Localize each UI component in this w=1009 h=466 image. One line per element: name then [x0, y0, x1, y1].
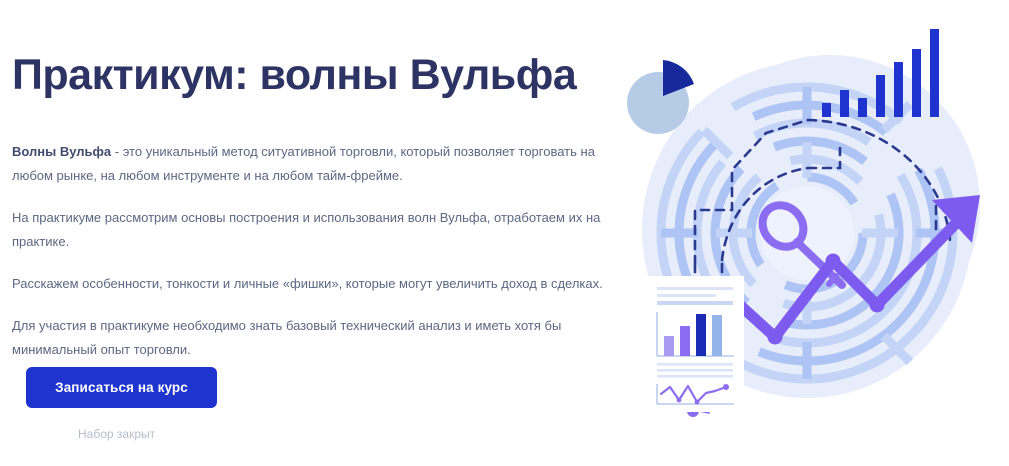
page-title: Практикум: волны Вульфа	[12, 50, 576, 100]
description-block: Волны Вульфа - это уникальный метод ситу…	[12, 140, 618, 362]
paragraph-4: Для участия в практикуме необходимо знат…	[12, 314, 618, 362]
maze-key-analytics-illustration	[600, 0, 1009, 466]
paragraph-3: Расскажем особенности, тонкости и личные…	[12, 272, 618, 296]
enroll-button[interactable]: Записаться на курс	[26, 367, 217, 408]
paragraph-1-lead: Волны Вульфа	[12, 144, 111, 159]
report-card	[646, 276, 744, 417]
content-column: Практикум: волны Вульфа Волны Вульфа - э…	[12, 0, 630, 466]
landing-page: Практикум: волны Вульфа Волны Вульфа - э…	[0, 0, 1009, 466]
enrollment-closed-note: Набор закрыт	[78, 427, 155, 441]
paragraph-1: Волны Вульфа - это уникальный метод ситу…	[12, 140, 618, 188]
paragraph-2: На практикуме рассмотрим основы построен…	[12, 206, 618, 254]
